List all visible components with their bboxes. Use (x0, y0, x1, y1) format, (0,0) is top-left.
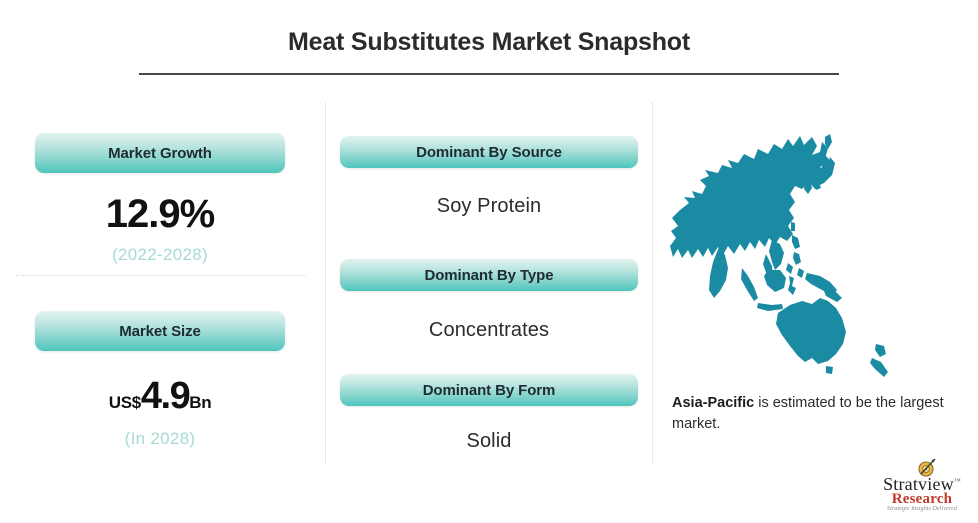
answer-dominant-by-type: Concentrates (340, 319, 638, 342)
map-caption-region: Asia-Pacific (672, 395, 754, 411)
pill-dominant-by-type[interactable]: Dominant By Type (340, 259, 638, 291)
snapshot-infographic: Meat Substitutes Market Snapshot Market … (0, 0, 978, 523)
title-divider (139, 73, 839, 75)
map-caption: Asia-Pacific is estimated to be the larg… (672, 393, 952, 434)
stratview-research-logo[interactable]: Stratview™ Research Strategic Insights D… (872, 458, 972, 514)
pill-dominant-by-form-label: Dominant By Form (423, 382, 556, 399)
market-size-period: (In 2028) (35, 429, 285, 449)
pill-market-growth-label: Market Growth (108, 145, 212, 162)
answer-dominant-by-form: Solid (340, 430, 638, 453)
pill-dominant-by-type-label: Dominant By Type (425, 267, 554, 284)
market-size-number: 4.9 (141, 375, 189, 417)
logo-trademark: ™ (954, 477, 961, 485)
column-divider-left (325, 103, 326, 463)
market-size-currency: US$ (109, 393, 141, 412)
page-title: Meat Substitutes Market Snapshot (0, 28, 978, 57)
market-growth-value: 12.9% (35, 192, 285, 237)
pill-dominant-by-source[interactable]: Dominant By Source (340, 136, 638, 168)
left-column-divider (16, 275, 306, 276)
column-divider-right (652, 103, 653, 463)
asia-pacific-map-icon (662, 118, 962, 380)
pill-market-size-label: Market Size (119, 323, 200, 340)
answer-dominant-by-source: Soy Protein (340, 195, 638, 218)
pill-dominant-by-form[interactable]: Dominant By Form (340, 374, 638, 406)
pill-dominant-by-source-label: Dominant By Source (416, 144, 562, 161)
logo-tagline: Strategic Insights Delivered (872, 506, 972, 512)
market-size-value: US$4.9Bn (35, 375, 285, 418)
pill-market-growth[interactable]: Market Growth (35, 133, 285, 173)
market-growth-period: (2022-2028) (35, 245, 285, 265)
pill-market-size[interactable]: Market Size (35, 311, 285, 351)
market-size-suffix: Bn (189, 393, 211, 412)
